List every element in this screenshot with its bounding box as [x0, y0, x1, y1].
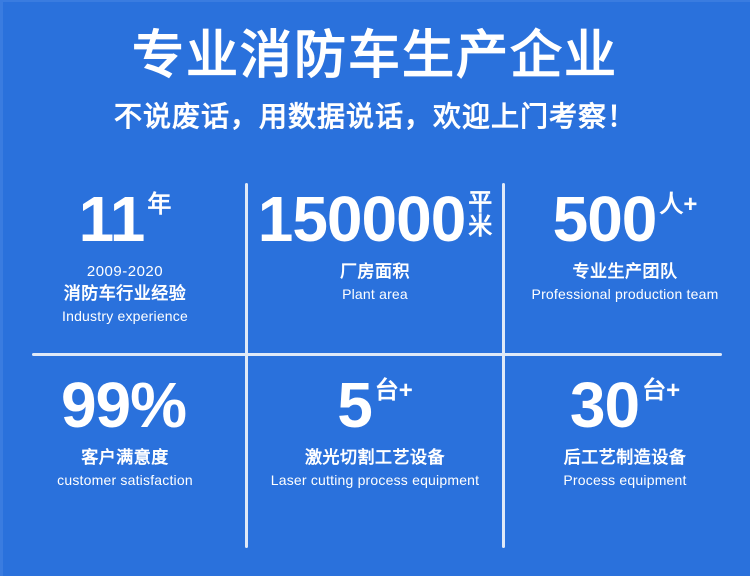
stat-label-cn: 专业生产团队	[500, 260, 750, 284]
stat-unit: 平 米	[468, 191, 492, 239]
stat-texts: 专业生产团队 Professional production team	[500, 260, 750, 304]
stat-cell-plant-area: 150000 平 米 厂房面积 Plant area	[250, 184, 500, 304]
stat-unit: 年	[147, 192, 171, 218]
stat-label-en: Professional production team	[500, 284, 750, 304]
stat-unit: 人+	[659, 192, 697, 218]
banner-header: 专业消防车生产企业 不说废话，用数据说话，欢迎上门考察！	[0, 26, 750, 134]
stat-value: 150000	[258, 184, 466, 254]
stat-value: 30	[570, 370, 639, 440]
stat-texts: 后工艺制造设备 Process equipment	[500, 446, 750, 490]
stat-label-cn: 消防车行业经验	[0, 282, 250, 306]
stat-label-cn: 客户满意度	[0, 446, 250, 470]
stat-label-cn: 厂房面积	[250, 260, 500, 284]
stat-value-row: 500 人+	[500, 184, 750, 258]
stat-cell-process-equipment: 30 台+ 后工艺制造设备 Process equipment	[500, 370, 750, 490]
stats-grid: 11 年 2009-2020 消防车行业经验 Industry experien…	[0, 178, 750, 552]
stat-label-cn: 激光切割工艺设备	[250, 446, 500, 470]
stat-cell-laser-cutting-equipment: 5 台+ 激光切割工艺设备 Laser cutting process equi…	[250, 370, 500, 490]
stat-label-en: Laser cutting process equipment	[250, 470, 500, 490]
stat-unit-bottom: 米	[468, 215, 492, 239]
stat-value-row: 30 台+	[500, 370, 750, 444]
stat-cell-industry-experience: 11 年 2009-2020 消防车行业经验 Industry experien…	[0, 184, 250, 326]
stat-value-row: 11 年	[0, 184, 250, 258]
stat-value: 11	[79, 184, 145, 254]
stat-texts: 厂房面积 Plant area	[250, 260, 500, 304]
page-subtitle: 不说废话，用数据说话，欢迎上门考察！	[0, 100, 750, 134]
stat-texts: 激光切割工艺设备 Laser cutting process equipment	[250, 446, 500, 490]
stat-texts: 2009-2020 消防车行业经验 Industry experience	[0, 262, 250, 326]
stat-value-row: 150000 平 米	[250, 184, 500, 258]
grid-divider-horizontal	[32, 353, 722, 356]
stat-value: 99%	[61, 370, 186, 440]
stat-value: 500	[553, 184, 657, 254]
stat-texts: 客户满意度 customer satisfaction	[0, 446, 250, 490]
page-title: 专业消防车生产企业	[0, 26, 750, 86]
stat-label-en: Process equipment	[500, 470, 750, 490]
promo-banner: 专业消防车生产企业 不说废话，用数据说话，欢迎上门考察！ 11 年 2009-2…	[0, 0, 750, 576]
stat-label-cn: 后工艺制造设备	[500, 446, 750, 470]
stat-cell-production-team: 500 人+ 专业生产团队 Professional production te…	[500, 184, 750, 304]
grid-divider-vertical-right	[502, 183, 505, 548]
stat-cell-customer-satisfaction: 99% 客户满意度 customer satisfaction	[0, 370, 250, 490]
stat-unit: 台+	[642, 378, 680, 404]
stat-unit-top: 平	[468, 191, 492, 215]
stat-year-range: 2009-2020	[0, 262, 250, 282]
stat-value-row: 5 台+	[250, 370, 500, 444]
stat-value: 5	[337, 370, 372, 440]
stat-value-row: 99%	[0, 370, 250, 444]
stat-unit: 台+	[375, 378, 413, 404]
stat-label-en: Industry experience	[0, 306, 250, 326]
stat-label-en: customer satisfaction	[0, 470, 250, 490]
grid-divider-vertical-left	[245, 183, 248, 548]
stat-label-en: Plant area	[250, 284, 500, 304]
